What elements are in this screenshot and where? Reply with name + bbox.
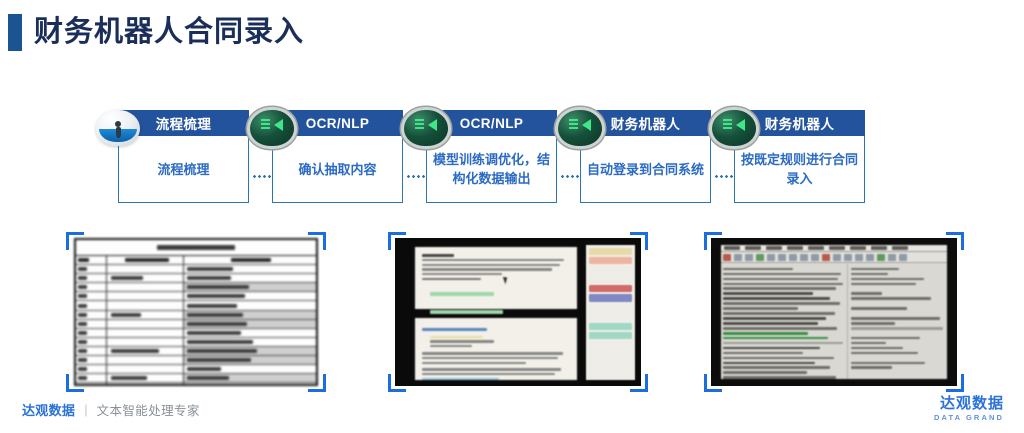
annotation-tool-screenshot[interactable] [390, 234, 646, 390]
flow-step-2-text: 确认抽取内容 [298, 160, 376, 179]
flow-step-4-body: 自动登录到合同系统 [580, 136, 711, 203]
flow-step-3-body: 模型训练调优化，结构化数据输出 [426, 136, 557, 203]
flow-step-4[interactable]: 财务机器人 自动登录到合同系统 [580, 110, 711, 205]
flow-step-4-text: 自动登录到合同系统 [587, 160, 704, 179]
corner-bracket [388, 232, 406, 250]
document-extract-icon [250, 110, 294, 146]
corner-bracket [630, 232, 648, 250]
footer: 达观数据 | 文本智能处理专家 达观数据 DATA GRAND [0, 389, 1024, 433]
label-tag-list [586, 245, 635, 380]
contract-review-table-screenshot[interactable] [68, 234, 324, 390]
contract-table-image [74, 238, 318, 386]
corner-bracket [704, 232, 722, 250]
flow-step-5-body: 按既定规则进行合同录入 [734, 136, 865, 203]
footer-tagline: 文本智能处理专家 [97, 400, 200, 419]
document-extract-icon [558, 110, 602, 146]
process-flow: 流程梳理 流程梳理 OCR/NLP 确认抽取内容 OCR/NLP [0, 92, 1024, 222]
logo-chinese: 达观数据 [934, 395, 1004, 412]
flow-step-3-text: 模型训练调优化，结构化数据输出 [433, 150, 550, 188]
annotation-tool-image [395, 238, 641, 386]
page-title: 财务机器人合同录入 [0, 0, 1024, 70]
flow-step-2-body: 确认抽取内容 [272, 136, 403, 203]
slide-root: 财务机器人合同录入 流程梳理 流程梳理 OCR/NLP 确认抽取内容 [0, 0, 1024, 433]
title-text: 财务机器人合同录入 [34, 11, 304, 53]
flow-step-1-body: 流程梳理 [118, 136, 249, 203]
company-logo: 达观数据 DATA GRAND [934, 395, 1004, 423]
flow-step-2[interactable]: OCR/NLP 确认抽取内容 [272, 110, 403, 205]
flow-step-5-text: 按既定规则进行合同录入 [741, 150, 858, 188]
legacy-system-image [711, 238, 957, 386]
corner-bracket [308, 232, 326, 250]
document-extract-icon [712, 110, 756, 146]
footer-separator: | [84, 402, 87, 417]
flow-step-1[interactable]: 流程梳理 流程梳理 [118, 110, 249, 205]
document-extract-icon [404, 110, 448, 146]
corner-bracket [946, 232, 964, 250]
person-in-water-icon [96, 110, 140, 146]
flow-step-5[interactable]: 财务机器人 按既定规则进行合同录入 [734, 110, 865, 205]
corner-bracket [66, 232, 84, 250]
screenshot-gallery [0, 234, 1024, 392]
legacy-contract-system-screenshot[interactable] [706, 234, 962, 390]
flow-step-1-text: 流程梳理 [157, 160, 209, 179]
flow-step-3[interactable]: OCR/NLP 模型训练调优化，结构化数据输出 [426, 110, 557, 205]
logo-english: DATA GRAND [934, 412, 1004, 423]
title-accent-bar [8, 14, 22, 51]
footer-brand: 达观数据 [22, 400, 75, 419]
